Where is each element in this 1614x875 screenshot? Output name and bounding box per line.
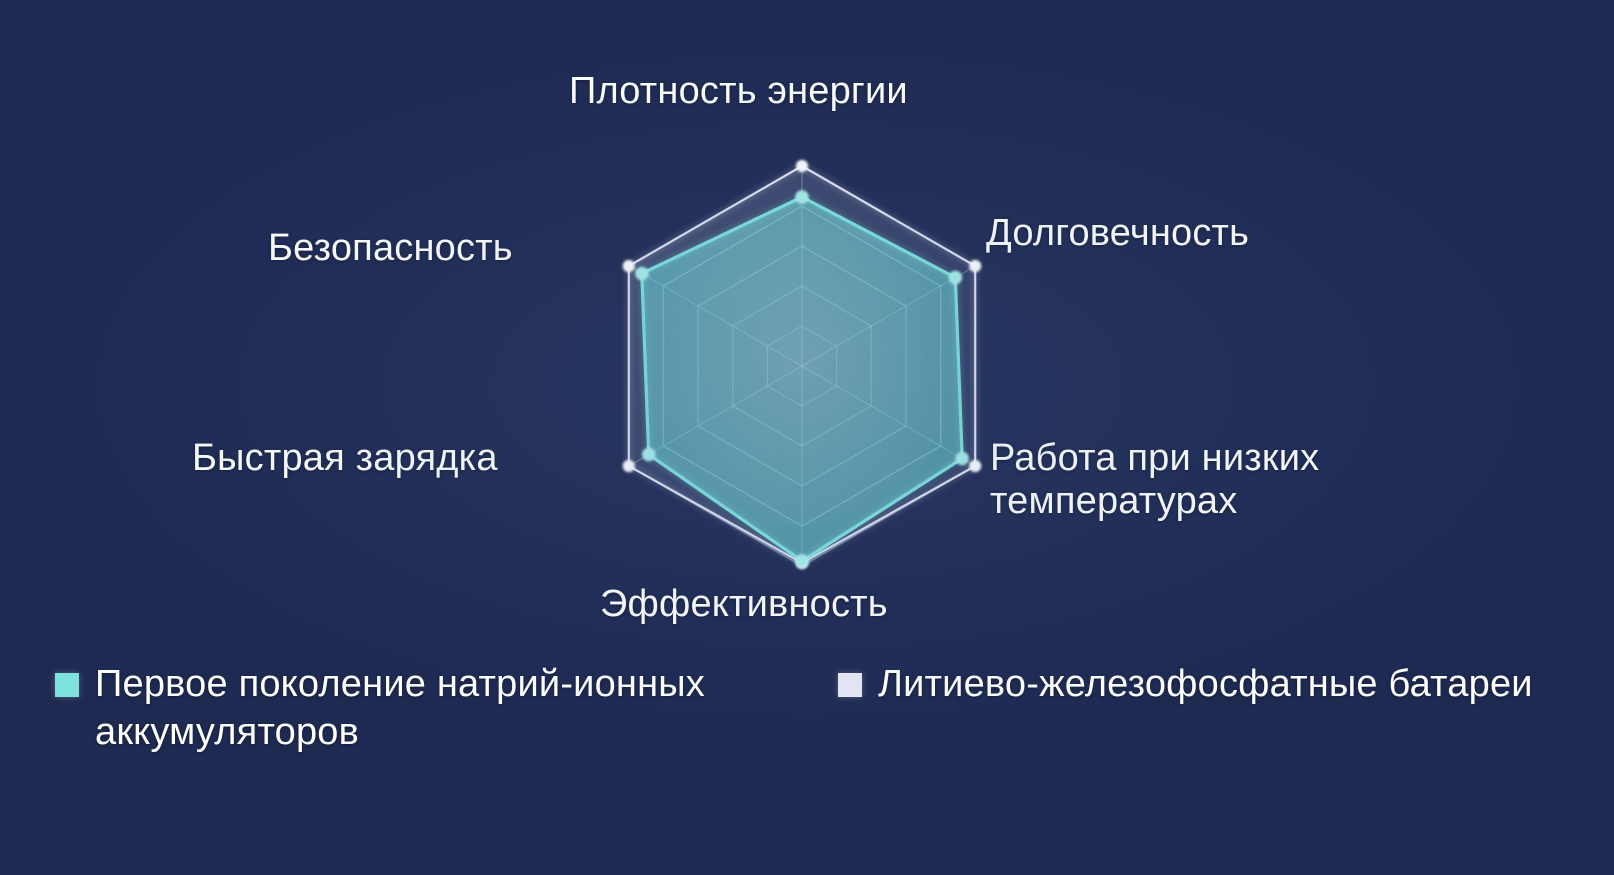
axis-label-fast-charging: Быстрая зарядка xyxy=(192,437,498,480)
axis-label-durability: Долговечность xyxy=(986,212,1249,255)
legend-label-sodium-ion: Первое поколение натрий-ионных аккумулят… xyxy=(95,661,795,757)
legend-item-lfp[interactable]: Литиево-железофосфатные батареи xyxy=(838,661,1598,709)
legend-label-lfp: Литиево-железофосфатные батареи xyxy=(878,661,1533,709)
axis-label-efficiency: Эффективность xyxy=(600,583,888,626)
legend-swatch-sodium-ion xyxy=(55,673,79,697)
axis-label-low-temperature: Работа при низких температурах xyxy=(990,437,1319,522)
legend-item-sodium-ion[interactable]: Первое поколение натрий-ионных аккумулят… xyxy=(55,661,795,757)
chart-legend: Первое поколение натрий-ионных аккумулят… xyxy=(0,661,1614,811)
slide-background: Плотность энергии Долговечность Работа п… xyxy=(0,0,1614,875)
axis-label-energy-density: Плотность энергии xyxy=(569,70,908,113)
radar-series xyxy=(629,166,975,563)
axis-label-safety: Безопасность xyxy=(268,227,513,270)
legend-swatch-lfp xyxy=(838,673,862,697)
